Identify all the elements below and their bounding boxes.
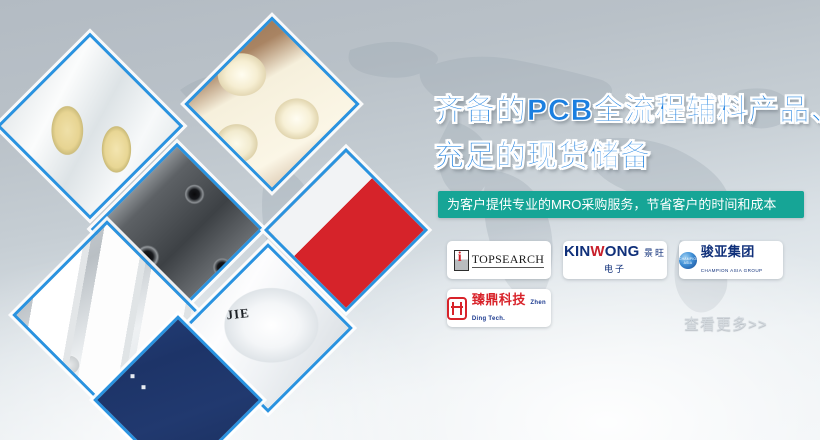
champion-asia-chinese-name: 骏亚集团 <box>701 244 755 259</box>
partner-logos-row-1: TOPSEARCH KINWONG 景旺电子 骏亚集团 CHAMPION ASI… <box>447 241 807 279</box>
headline: 齐备的PCB全流程辅料产品、 充足的现货储备 <box>434 88 814 180</box>
zhen-ding-chinese-name: 臻鼎科技 <box>472 292 526 307</box>
champion-asia-wordmark: CHAMPION ASIA GROUP <box>701 268 763 273</box>
partner-logo-kinwong[interactable]: KINWONG 景旺电子 <box>563 241 667 279</box>
promo-banner: JIE 齐备的PCB全流程辅料产品、 充足的现货储备 为客户提供专业的MRO采购… <box>0 0 820 440</box>
zhen-ding-mark-icon <box>447 297 467 320</box>
topsearch-mark-icon <box>454 250 469 271</box>
headline-line-2: 充足的现货储备 <box>434 134 814 180</box>
view-more-link[interactable]: 查看更多>> <box>684 313 768 334</box>
partner-logo-champion-asia[interactable]: 骏亚集团 CHAMPION ASIA GROUP <box>679 241 783 279</box>
product-tile-collage: JIE <box>0 0 440 440</box>
topsearch-wordmark: TOPSEARCH <box>472 252 545 268</box>
headline-line-1: 齐备的PCB全流程辅料产品、 <box>434 88 814 134</box>
navy-sheet-edge-dots <box>120 362 188 413</box>
partner-logo-topsearch[interactable]: TOPSEARCH <box>447 241 551 279</box>
kinwong-wordmark: KINWONG <box>564 243 640 260</box>
champion-asia-globe-icon <box>679 252 697 269</box>
tile-caption-jie: JIE <box>226 305 251 323</box>
subtitle-bar: 为客户提供专业的MRO采购服务，节省客户的时间和成本 <box>438 191 804 218</box>
subtitle-text: 为客户提供专业的MRO采购服务，节省客户的时间和成本 <box>438 191 804 218</box>
partner-logo-zhen-ding[interactable]: 臻鼎科技 Zhen Ding Tech. <box>447 289 551 327</box>
